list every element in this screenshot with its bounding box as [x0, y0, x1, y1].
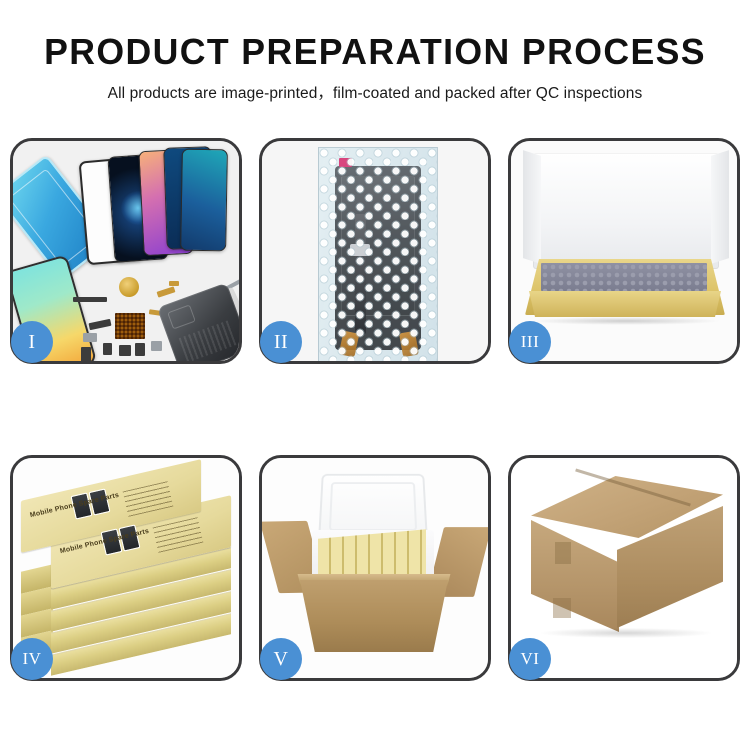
part-speaker-coil	[119, 277, 139, 297]
process-step-panel-1[interactable]: I	[10, 138, 242, 364]
process-step-grid: I II	[10, 138, 740, 681]
bubble-texture	[319, 148, 437, 361]
step-badge-2: II	[260, 321, 302, 363]
box-stack: Mobile Phone Spare Parts Mobile Phone Sp…	[15, 472, 239, 670]
page-subtitle: All products are image-printed，film-coat…	[0, 70, 750, 103]
part-button	[103, 343, 112, 355]
spare-parts-cluster	[73, 271, 239, 361]
step-badge-1: I	[11, 321, 53, 363]
yellow-box-front-panel	[525, 291, 725, 317]
part-gold-clip	[169, 281, 179, 286]
carton-tape-mark-lower	[553, 598, 571, 618]
part-shield	[151, 341, 162, 351]
step-badge-4: IV	[11, 638, 53, 680]
part-strip	[73, 297, 107, 302]
part-flex-gold	[157, 286, 176, 297]
carton-drop-shadow	[541, 628, 711, 638]
part-camera	[119, 345, 131, 356]
box-drop-shadow	[531, 317, 721, 325]
process-step-panel-5[interactable]: V	[259, 455, 491, 681]
part-screw	[237, 357, 239, 361]
process-step-panel-4[interactable]: Mobile Phone Spare Parts Mobile Phone Sp…	[10, 455, 242, 681]
process-step-panel-2[interactable]: II	[259, 138, 491, 364]
carton-front-panel	[300, 580, 448, 652]
process-step-panel-3[interactable]: III	[508, 138, 740, 364]
process-step-panel-6[interactable]: VI	[508, 455, 740, 681]
phone-backplate-internals	[157, 283, 239, 361]
white-box-lid	[533, 153, 719, 269]
header: PRODUCT PREPARATION PROCESS All products…	[0, 0, 750, 103]
bubble-wrap-bag	[318, 147, 438, 361]
page-title: PRODUCT PREPARATION PROCESS	[4, 0, 747, 70]
phone-teal	[180, 149, 228, 252]
part-sim-tray	[81, 347, 91, 361]
grey-sponge-foam	[541, 263, 707, 291]
step-badge-6: VI	[509, 638, 551, 680]
step-badge-5: V	[260, 638, 302, 680]
carton-left-face	[531, 520, 619, 632]
part-module	[135, 343, 145, 356]
part-bracket	[83, 333, 97, 342]
product-preparation-process-page: PRODUCT PREPARATION PROCESS All products…	[0, 0, 750, 750]
part-chip-grid	[115, 313, 145, 339]
part-connector	[89, 319, 112, 330]
step-badge-3: III	[509, 321, 551, 363]
carton-tape-mark-upper	[555, 542, 571, 564]
